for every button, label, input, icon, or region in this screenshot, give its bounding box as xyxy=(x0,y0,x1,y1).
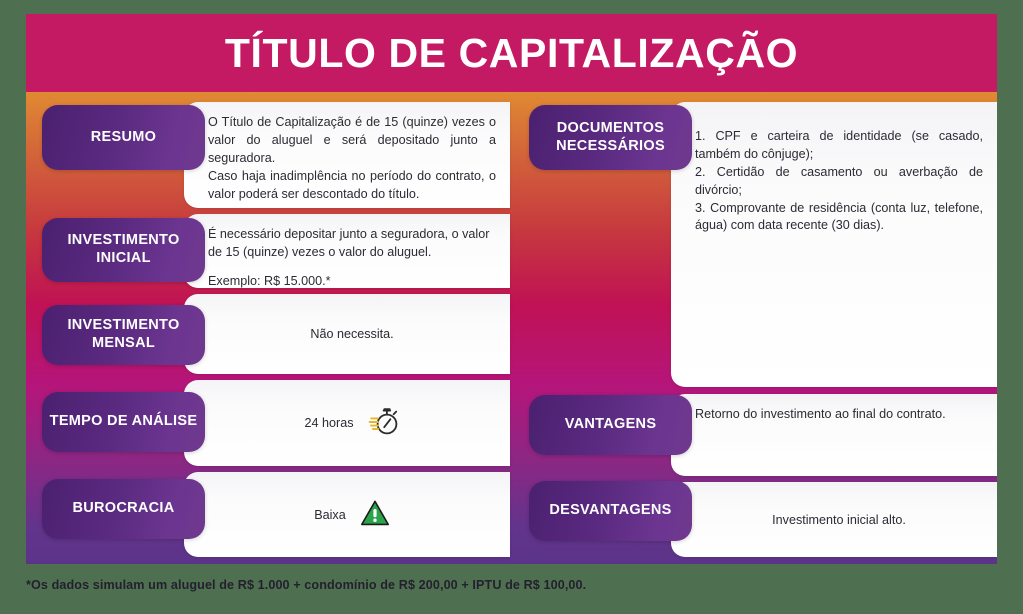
gradient-body-panel: O Título de Capitalização é de 15 (quinz… xyxy=(26,92,997,564)
card-burocracia-body: Baixa xyxy=(184,472,510,557)
card-investimento-mensal-body: Não necessita. xyxy=(184,294,510,374)
label-burocracia[interactable]: BUROCRACIA xyxy=(42,479,205,539)
label-burocracia-text: BUROCRACIA xyxy=(66,500,180,518)
card-resumo: O Título de Capitalização é de 15 (quinz… xyxy=(184,102,510,208)
label-documentos-necessarios-text: DOCUMENTOS NECESSÁRIOS xyxy=(529,120,692,155)
right-column: 1. CPF e carteira de identidade (se casa… xyxy=(513,92,997,564)
label-desvantagens-text: DESVANTAGENS xyxy=(543,502,677,520)
documento-item-2: 2. Certidão de casamento ou averbação de… xyxy=(695,164,983,200)
label-investimento-inicial-text: INVESTIMENTO INICIAL xyxy=(42,232,205,267)
investimento-inicial-paragraph-1: É necessário depositar junto a segurador… xyxy=(208,226,496,262)
page-title: TÍTULO DE CAPITALIZAÇÃO xyxy=(225,30,798,77)
tempo-de-analise-value: 24 horas xyxy=(304,415,353,433)
label-tempo-de-analise-text: TEMPO DE ANÁLISE xyxy=(44,413,204,431)
label-vantagens[interactable]: VANTAGENS xyxy=(529,395,692,455)
resumo-paragraph-1: O Título de Capitalização é de 15 (quinz… xyxy=(208,114,496,168)
card-investimento-inicial-body: É necessário depositar junto a segurador… xyxy=(184,214,510,301)
left-column: O Título de Capitalização é de 15 (quinz… xyxy=(26,92,510,564)
card-desvantagens: Investimento inicial alto. xyxy=(671,482,997,557)
card-documentos-necessarios-body: 1. CPF e carteira de identidade (se casa… xyxy=(671,102,997,245)
documento-item-1: 1. CPF e carteira de identidade (se casa… xyxy=(695,128,983,164)
label-investimento-inicial[interactable]: INVESTIMENTO INICIAL xyxy=(42,218,205,282)
card-documentos-necessarios: 1. CPF e carteira de identidade (se casa… xyxy=(671,102,997,387)
card-desvantagens-body: Investimento inicial alto. xyxy=(671,482,997,557)
vantagens-text: Retorno do investimento ao final do cont… xyxy=(695,406,983,424)
desvantagens-text: Investimento inicial alto. xyxy=(772,512,906,530)
label-desvantagens[interactable]: DESVANTAGENS xyxy=(529,481,692,541)
burocracia-value: Baixa xyxy=(314,507,346,525)
card-investimento-inicial: É necessário depositar junto a segurador… xyxy=(184,214,510,288)
documento-item-3: 3. Comprovante de residência (conta luz,… xyxy=(695,200,983,236)
header-bar: TÍTULO DE CAPITALIZAÇÃO xyxy=(26,14,997,92)
label-investimento-mensal-text: INVESTIMENTO MENSAL xyxy=(42,317,205,352)
label-investimento-mensal[interactable]: INVESTIMENTO MENSAL xyxy=(42,305,205,365)
paragraph-spacer xyxy=(208,262,496,273)
footer-note: *Os dados simulam um aluguel de R$ 1.000… xyxy=(26,578,997,592)
card-tempo-de-analise: 24 horas xyxy=(184,380,510,466)
label-documentos-necessarios[interactable]: DOCUMENTOS NECESSÁRIOS xyxy=(529,105,692,170)
card-resumo-body: O Título de Capitalização é de 15 (quinz… xyxy=(184,102,510,213)
infographic-root: TÍTULO DE CAPITALIZAÇÃO O Título de Capi… xyxy=(0,0,1023,614)
label-vantagens-text: VANTAGENS xyxy=(559,416,663,434)
stopwatch-icon xyxy=(368,405,400,443)
investimento-inicial-paragraph-2: Exemplo: R$ 15.000.* xyxy=(208,273,496,291)
card-vantagens: Retorno do investimento ao final do cont… xyxy=(671,394,997,476)
card-vantagens-body: Retorno do investimento ao final do cont… xyxy=(671,394,997,434)
resumo-paragraph-2: Caso haja inadimplência no período do co… xyxy=(208,168,496,204)
label-resumo[interactable]: RESUMO xyxy=(42,105,205,170)
card-tempo-de-analise-body: 24 horas xyxy=(184,380,510,466)
warning-triangle-icon xyxy=(360,499,390,533)
label-tempo-de-analise[interactable]: TEMPO DE ANÁLISE xyxy=(42,392,205,452)
card-investimento-mensal: Não necessita. xyxy=(184,294,510,374)
investimento-mensal-value: Não necessita. xyxy=(310,326,393,344)
label-resumo-text: RESUMO xyxy=(85,129,162,147)
card-burocracia: Baixa xyxy=(184,472,510,557)
